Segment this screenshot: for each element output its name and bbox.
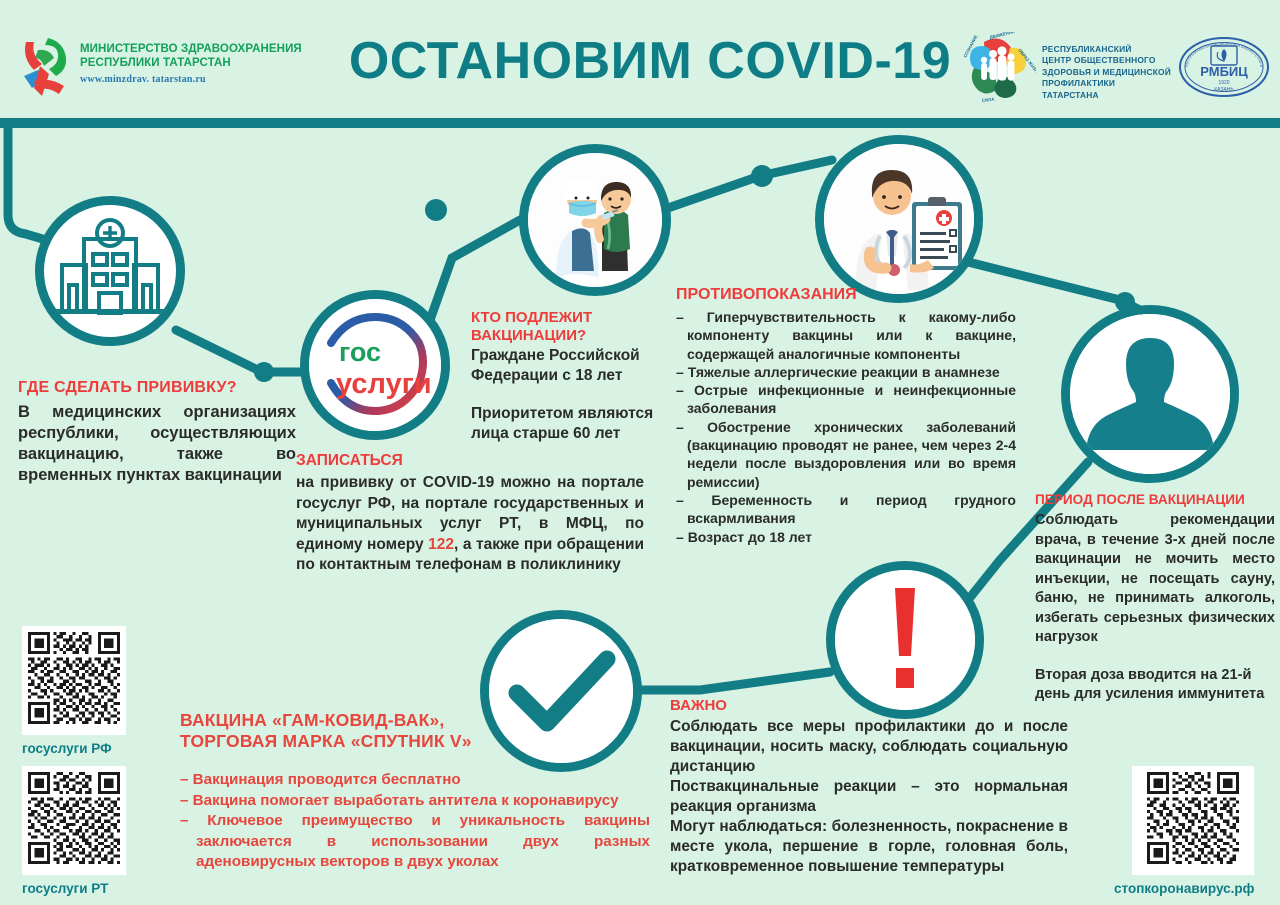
where-heading: ГДЕ СДЕЛАТЬ ПРИВИВКУ? <box>18 378 296 397</box>
important-body-1: Соблюдать все меры профилактики до и пос… <box>670 717 1068 777</box>
minzdrav-line1: МИНИСТЕРСТВО ЗДРАВООХРАНЕНИЯ <box>80 43 302 55</box>
vaccine-heading-line1: ВАКЦИНА «ГАМ-КОВИД-ВАК», <box>180 710 444 730</box>
list-item: Вакцинация проводится бесплатно <box>180 770 650 791</box>
who-heading: КТО ПОДЛЕЖИТ ВАКЦИНАЦИИ? <box>471 309 671 344</box>
rcoz-line2: ЦЕНТР ОБЩЕСТВЕННОГО <box>1042 55 1156 65</box>
who-body-priority: Приоритетом являются лица старше 60 лет <box>471 404 671 444</box>
rcoz-line3: ЗДОРОВЬЯ И МЕДИЦИНСКОЙ <box>1042 67 1171 77</box>
qr-gosuslugi-rf-icon <box>28 632 120 724</box>
infographic-poster: МИНИСТЕРСТВО ЗДРАВООХРАНЕНИЯ РЕСПУБЛИКИ … <box>0 0 1280 905</box>
page-title: ОСТАНОВИМ COVID-19 <box>340 33 960 89</box>
node-hospital <box>35 196 185 346</box>
qr-gosuslugi-rt-icon <box>28 772 120 864</box>
qr-code-image[interactable] <box>1132 766 1254 875</box>
gosuslugi-logo: гос услуги <box>309 299 441 431</box>
qr-stopkoronavirus[interactable]: стопкоронавирус.рф <box>1132 766 1254 896</box>
vaccine-heading-line2: ТОРГОВАЯ МАРКА «СПУТНИК V» <box>180 731 472 751</box>
block-contraindications: ПРОТИВОПОКАЗАНИЯ Гиперчувствительность к… <box>676 285 1016 546</box>
qr-gosuslugi-rt[interactable]: госуслуги РТ <box>22 766 126 896</box>
signup-body: на прививку от COVID-19 можно на портале… <box>296 473 644 576</box>
important-heading: ВАЖНО <box>670 697 1068 715</box>
minzdrav-text: МИНИСТЕРСТВО ЗДРАВООХРАНЕНИЯ РЕСПУБЛИКИ … <box>80 42 320 85</box>
minzdrav-emblem-icon <box>18 36 74 98</box>
node-vaccination-illustration <box>519 144 671 296</box>
rcoz-emblem-icon: СОЗНАНИЕ ДВИЖЕНИЕ ОБРАЗ ЖИЗНИ СИЛА <box>960 32 1036 106</box>
rcoz-logo: СОЗНАНИЕ ДВИЖЕНИЕ ОБРАЗ ЖИЗНИ СИЛА РЕСПУ… <box>960 30 1160 108</box>
list-item: Беременность и период грудного вскармлив… <box>676 491 1016 528</box>
rmbic-logo: РМБИЦ 1920 КАЗАНЬ РЕСПУБЛИКАНСКИЙ МЕДИЦИ… <box>1178 36 1270 98</box>
where-body: В медицинских организациях республики, о… <box>18 402 296 486</box>
list-item: Возраст до 18 лет <box>676 528 1016 546</box>
qr-gosuslugi-rf[interactable]: госуслуги РФ <box>22 626 126 756</box>
doctor-clipboard-illustration <box>824 144 974 294</box>
block-vaccine: ВАКЦИНА «ГАМ-КОВИД-ВАК», ТОРГОВАЯ МАРКА … <box>180 710 650 873</box>
who-heading-line1: КТО ПОДЛЕЖИТ <box>471 309 592 326</box>
svg-text:ДВИЖЕНИЕ: ДВИЖЕНИЕ <box>989 32 1015 40</box>
list-item: Гиперчувствительность к какому-либо комп… <box>676 308 1016 363</box>
hospital-icon <box>44 205 176 337</box>
rcoz-text: РЕСПУБЛИКАНСКИЙ ЦЕНТР ОБЩЕСТВЕННОГО ЗДОР… <box>1042 44 1172 101</box>
qr-stopkoronavirus-icon <box>1147 772 1239 864</box>
after-body-second-dose: Вторая доза вводится на 21-й день для ус… <box>1035 666 1275 705</box>
rcoz-line4: ПРОФИЛАКТИКИ ТАТАРСТАНА <box>1042 78 1115 99</box>
contraindications-heading: ПРОТИВОПОКАЗАНИЯ <box>676 285 1016 304</box>
qr-caption: госуслуги РФ <box>22 741 126 756</box>
after-body: Соблюдать рекомендации врача, в течение … <box>1035 511 1275 648</box>
rmbic-name: РМБИЦ <box>1200 64 1248 79</box>
list-item: Обострение хронических заболеваний (вакц… <box>676 418 1016 491</box>
person-silhouette-icon <box>1070 314 1230 474</box>
important-body-2: Поствакцинальные реакции – это нормальна… <box>670 777 1068 817</box>
list-item: Вакцина помогает выработать антитела к к… <box>180 791 650 812</box>
vaccination-illustration <box>528 153 662 287</box>
vaccine-heading: ВАКЦИНА «ГАМ-КОВИД-ВАК», ТОРГОВАЯ МАРКА … <box>180 710 650 752</box>
rmbic-year: 1920 <box>1218 80 1229 86</box>
poster-header: МИНИСТЕРСТВО ЗДРАВООХРАНЕНИЯ РЕСПУБЛИКИ … <box>0 0 1280 118</box>
qr-caption: стопкоронавирус.рф <box>1114 881 1254 896</box>
minzdrav-logo: МИНИСТЕРСТВО ЗДРАВООХРАНЕНИЯ РЕСПУБЛИКИ … <box>18 36 318 106</box>
block-after-vaccination: ПЕРИОД ПОСЛЕ ВАКЦИНАЦИИ Соблюдать рекоме… <box>1035 492 1275 705</box>
qr-code-image[interactable] <box>22 626 126 735</box>
after-heading: ПЕРИОД ПОСЛЕ ВАКЦИНАЦИИ <box>1035 492 1275 508</box>
node-person-silhouette <box>1061 305 1239 483</box>
node-gosuslugi-logo: гос услуги <box>300 290 450 440</box>
who-body: Граждане Российской Федерации с 18 лет <box>471 346 671 386</box>
list-item: Острые инфекционные и неинфекционные заб… <box>676 381 1016 418</box>
block-where-to-vaccinate: ГДЕ СДЕЛАТЬ ПРИВИВКУ? В медицинских орга… <box>18 378 296 486</box>
minzdrav-line2: РЕСПУБЛИКИ ТАТАРСТАН <box>80 57 231 69</box>
node-alert <box>826 561 984 719</box>
vaccine-list: Вакцинация проводится бесплатно Вакцина … <box>180 770 650 873</box>
rmbic-city: КАЗАНЬ <box>1214 87 1234 93</box>
who-heading-line2: ВАКЦИНАЦИИ? <box>471 327 586 344</box>
rcoz-line1: РЕСПУБЛИКАНСКИЙ <box>1042 44 1132 54</box>
block-who-is-eligible: КТО ПОДЛЕЖИТ ВАКЦИНАЦИИ? Граждане Россий… <box>471 309 671 444</box>
list-item: Ключевое преимущество и уникальность вак… <box>180 811 650 873</box>
important-body-3: Могут наблюдаться: болезненность, покрас… <box>670 817 1068 877</box>
gosuslugi-line1: гос <box>339 337 381 367</box>
contraindications-list: Гиперчувствительность к какому-либо комп… <box>676 308 1016 546</box>
gosuslugi-line2: услуги <box>336 368 432 400</box>
svg-text:СИЛА: СИЛА <box>982 97 996 103</box>
list-item: Тяжелые аллергические реакции в анамнезе <box>676 363 1016 381</box>
signup-heading: ЗАПИСАТЬСЯ <box>296 452 644 470</box>
qr-code-image[interactable] <box>22 766 126 875</box>
node-doctor-clipboard <box>815 135 983 303</box>
exclamation-mark-icon <box>835 570 975 710</box>
block-important: ВАЖНО Соблюдать все меры профилактики до… <box>670 697 1068 877</box>
signup-phone: 122 <box>428 536 454 553</box>
header-divider <box>0 118 1280 128</box>
block-signup: ЗАПИСАТЬСЯ на прививку от COVID-19 можно… <box>296 452 644 576</box>
minzdrav-url: www.minzdrav. tatarstan.ru <box>80 74 320 85</box>
qr-caption: госуслуги РТ <box>22 881 126 896</box>
